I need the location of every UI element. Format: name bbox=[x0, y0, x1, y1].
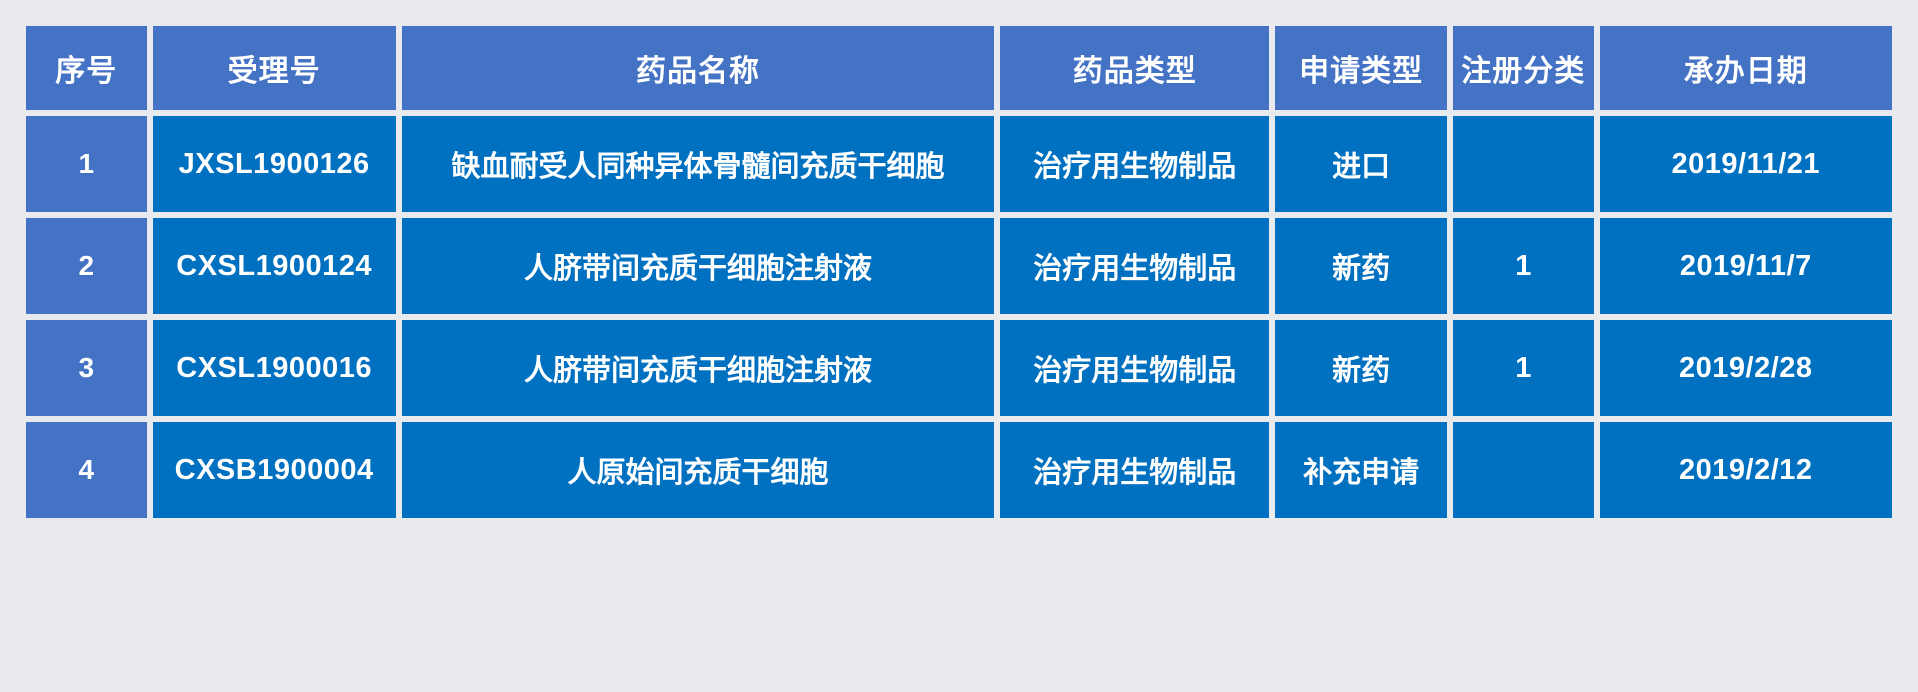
cell-drug_type: 治疗用生物制品 bbox=[1000, 320, 1269, 416]
cell-date: 2019/2/12 bbox=[1600, 422, 1892, 518]
cell-drug_name: 缺血耐受人同种异体骨髓间充质干细胞 bbox=[402, 116, 995, 212]
column-header-drug_name[interactable]: 药品名称 bbox=[402, 26, 995, 110]
cell-date: 2019/11/7 bbox=[1600, 218, 1892, 314]
cell-apply_type: 补充申请 bbox=[1275, 422, 1447, 518]
column-header-accept_no[interactable]: 受理号 bbox=[153, 26, 396, 110]
cell-date: 2019/11/21 bbox=[1600, 116, 1892, 212]
cell-accept_no: JXSL1900126 bbox=[153, 116, 396, 212]
cell-accept_no: CXSL1900016 bbox=[153, 320, 396, 416]
cell-index: 1 bbox=[26, 116, 147, 212]
cell-drug_type: 治疗用生物制品 bbox=[1000, 116, 1269, 212]
column-header-reg_class[interactable]: 注册分类 bbox=[1453, 26, 1594, 110]
cell-accept_no: CXSL1900124 bbox=[153, 218, 396, 314]
cell-drug_type: 治疗用生物制品 bbox=[1000, 218, 1269, 314]
table-body: 1JXSL1900126缺血耐受人同种异体骨髓间充质干细胞治疗用生物制品进口20… bbox=[26, 116, 1892, 518]
column-header-drug_type[interactable]: 药品类型 bbox=[1000, 26, 1269, 110]
table-row: 2CXSL1900124人脐带间充质干细胞注射液治疗用生物制品新药12019/1… bbox=[26, 218, 1892, 314]
column-header-index[interactable]: 序号 bbox=[26, 26, 147, 110]
header-row: 序号受理号药品名称药品类型申请类型注册分类承办日期 bbox=[26, 26, 1892, 110]
cell-index: 3 bbox=[26, 320, 147, 416]
cell-apply_type: 进口 bbox=[1275, 116, 1447, 212]
table-header: 序号受理号药品名称药品类型申请类型注册分类承办日期 bbox=[26, 26, 1892, 110]
cell-drug_type: 治疗用生物制品 bbox=[1000, 422, 1269, 518]
column-header-apply_type[interactable]: 申请类型 bbox=[1275, 26, 1447, 110]
cell-drug_name: 人原始间充质干细胞 bbox=[402, 422, 995, 518]
cell-index: 4 bbox=[26, 422, 147, 518]
cell-drug_name: 人脐带间充质干细胞注射液 bbox=[402, 218, 995, 314]
cell-accept_no: CXSB1900004 bbox=[153, 422, 396, 518]
cell-apply_type: 新药 bbox=[1275, 218, 1447, 314]
cell-reg_class bbox=[1453, 422, 1594, 518]
cell-apply_type: 新药 bbox=[1275, 320, 1447, 416]
table-row: 4CXSB1900004人原始间充质干细胞治疗用生物制品补充申请2019/2/1… bbox=[26, 422, 1892, 518]
table-row: 1JXSL1900126缺血耐受人同种异体骨髓间充质干细胞治疗用生物制品进口20… bbox=[26, 116, 1892, 212]
drug-registration-table: 序号受理号药品名称药品类型申请类型注册分类承办日期 1JXSL1900126缺血… bbox=[20, 20, 1898, 524]
table-row: 3CXSL1900016人脐带间充质干细胞注射液治疗用生物制品新药12019/2… bbox=[26, 320, 1892, 416]
cell-reg_class bbox=[1453, 116, 1594, 212]
column-header-date[interactable]: 承办日期 bbox=[1600, 26, 1892, 110]
cell-drug_name: 人脐带间充质干细胞注射液 bbox=[402, 320, 995, 416]
cell-reg_class: 1 bbox=[1453, 320, 1594, 416]
cell-reg_class: 1 bbox=[1453, 218, 1594, 314]
cell-date: 2019/2/28 bbox=[1600, 320, 1892, 416]
cell-index: 2 bbox=[26, 218, 147, 314]
table-canvas: 序号受理号药品名称药品类型申请类型注册分类承办日期 1JXSL1900126缺血… bbox=[0, 0, 1918, 692]
